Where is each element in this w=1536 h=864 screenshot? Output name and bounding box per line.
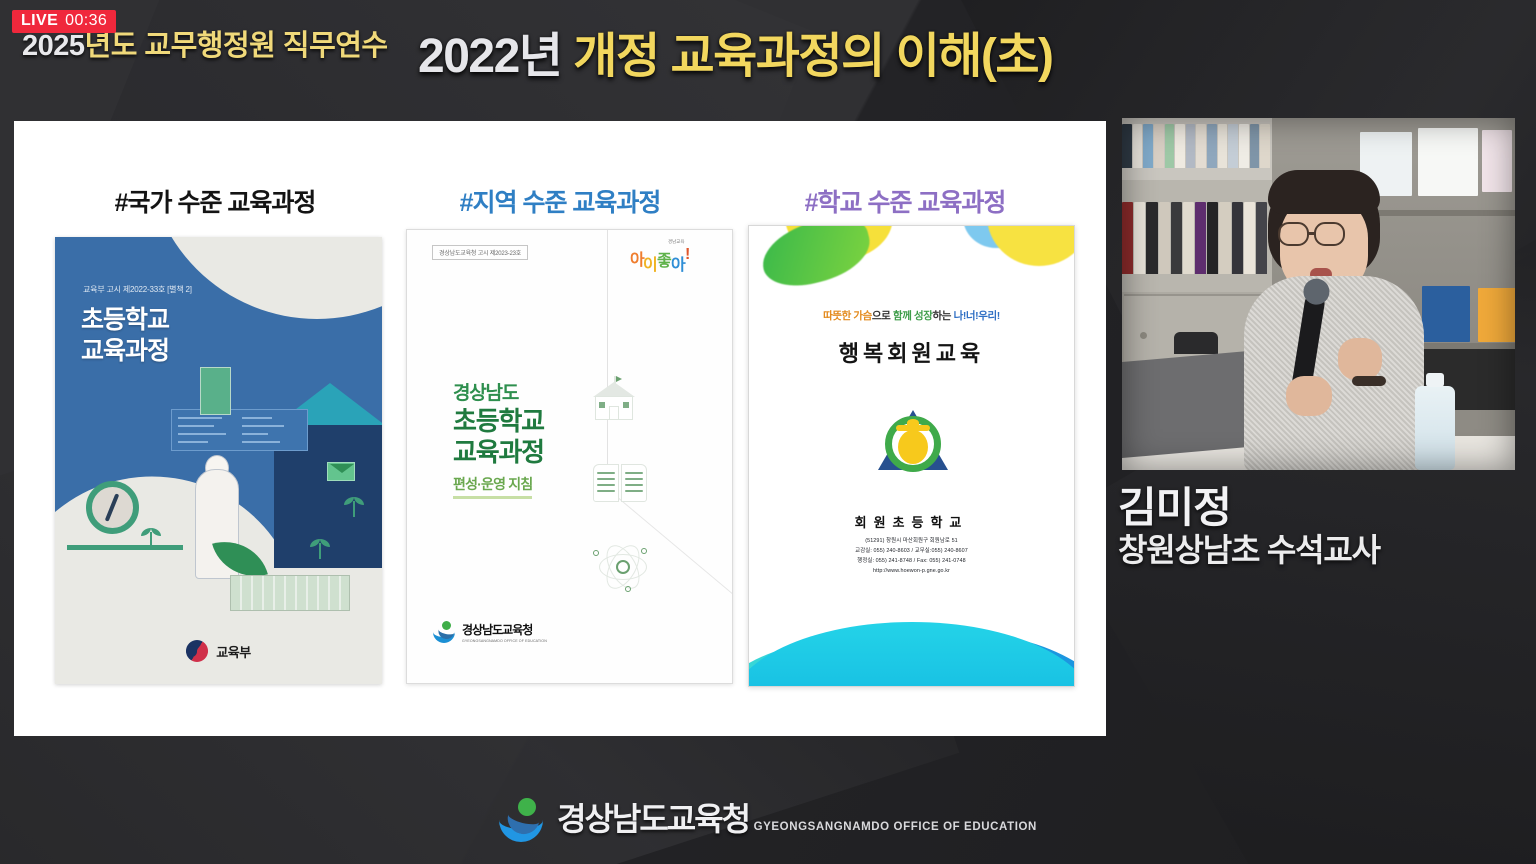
cover3-motto-part3: 함께 성장 — [893, 310, 933, 322]
cover1-data-panel — [171, 409, 308, 451]
presenter-gesturing-hand — [1338, 338, 1382, 380]
cover1-title-line1: 초등학교 — [81, 305, 169, 336]
cover1-title: 초등학교 교육과정 — [81, 305, 169, 368]
cover3-green-brush — [755, 225, 876, 294]
cover3-motto-part1: 따뜻한 가슴 — [823, 310, 872, 322]
cover2-title-line1: 경상남도 — [453, 382, 544, 406]
cover2-publisher-ko: 경상남도교육청 — [462, 623, 532, 637]
cover1-publisher-label: 교육부 — [216, 642, 250, 661]
school-building-icon — [587, 378, 641, 422]
live-badge: LIVE 00:36 — [12, 10, 116, 33]
presenter-caption: 김미정 창원상남초 수석교사 — [1118, 484, 1380, 569]
books-row-top — [1122, 124, 1270, 168]
page-title: 2022년 개정 교육과정의 이해(초) — [418, 16, 1053, 86]
taegeuk-government-icon — [186, 640, 208, 662]
water-bottle — [1415, 386, 1455, 470]
sprout-icon — [344, 495, 364, 517]
compass-icon — [86, 481, 139, 534]
live-label: LIVE — [21, 13, 58, 29]
envelope-icon — [327, 462, 355, 481]
cover2-publisher-en: GYEONGSANGNAMDO OFFICE OF EDUCATION — [462, 639, 547, 643]
cover3-phone: 교감실: 055) 240-8603 / 교무실:055) 240-8607 — [749, 546, 1074, 556]
school-emblem-icon — [874, 402, 952, 480]
cover3-motto-part5: 나!너!우리! — [954, 310, 1000, 322]
cover1-publisher: 교육부 — [55, 640, 382, 662]
keyboard-icon — [230, 575, 350, 611]
main-title-topic: 개정 교육과정의 이해(초) — [573, 30, 1052, 83]
cover1-chart-graphic — [200, 367, 231, 415]
atom-icon — [595, 542, 651, 596]
cover3-url: http://www.hoewon-p.gne.go.kr — [749, 566, 1074, 576]
main-title-year: 2022년 — [418, 30, 561, 83]
presenter-fringe — [1268, 170, 1380, 214]
aijoa-brand-logo: 경남교육 아이좋아! — [630, 240, 708, 270]
presenter-name: 김미정 — [1118, 484, 1380, 531]
cover1-notice-text: 교육부 고시 제2022-33호 [별책 2] — [83, 284, 192, 295]
gne-office-logo-icon — [433, 621, 455, 643]
banner-subtitle-text: 년도 교무행정원 직무연수 — [85, 30, 388, 62]
live-timer: 00:36 — [65, 13, 107, 29]
cover3-motto-part2: 으로 — [872, 310, 893, 322]
presenter-figure — [1234, 170, 1434, 470]
presenter-role: 창원상남초 수석교사 — [1118, 531, 1380, 569]
cover2-notice-tag: 경상남도교육청 고시 제2023-23호 — [432, 245, 528, 260]
cover3-motto-part4: 하는 — [933, 310, 954, 322]
cover3-wave-graphic — [749, 604, 1074, 686]
gne-logo-icon — [499, 798, 543, 842]
presenter-hand-holding-mic — [1286, 376, 1332, 416]
cover3-title: 행복회원교육 — [749, 336, 1074, 368]
organization-name-en: GYEONGSANGNAMDO OFFICE OF EDUCATION — [754, 821, 1037, 833]
cover3-yellow-blob-right — [987, 225, 1075, 266]
aijoa-sub-label: 경남교육 — [668, 239, 685, 245]
cover2-title: 경상남도 초등학교 교육과정 편성·운영 지침 — [453, 382, 544, 499]
glasses-right-lens-icon — [1314, 222, 1345, 246]
cover3-motto: 따뜻한 가슴으로 함께 성장하는 나!너!우리! — [749, 308, 1074, 323]
display-book-3 — [1482, 130, 1512, 192]
cover3-school-name: 회원초등학교 — [749, 512, 1074, 531]
book-cover-national-curriculum: 교육부 고시 제2022-33호 [별책 2] 초등학교 교육과정 — [55, 237, 382, 684]
glasses-left-lens-icon — [1278, 222, 1309, 246]
organization-logo: 경상남도교육청 GYEONGSANGNAMDO OFFICE OF EDUCAT… — [0, 798, 1536, 842]
book-cover-school-curriculum: 따뜻한 가슴으로 함께 성장하는 나!너!우리! 행복회원교육 회원초등학교 (… — [748, 225, 1075, 687]
cover3-fax: 행정실: 055) 241-8748 / Fax: 055) 241-0748 — [749, 556, 1074, 566]
cover2-subtitle: 편성·운영 지침 — [453, 474, 532, 499]
sprout-icon — [141, 526, 161, 548]
display-book-5 — [1478, 288, 1515, 342]
organization-name-ko: 경상남도교육청 — [557, 801, 749, 837]
chair-back — [1174, 332, 1218, 354]
presenter-video-feed[interactable] — [1122, 118, 1515, 470]
presentation-slide[interactable]: #국가 수준 교육과정 #지역 수준 교육과정 #학교 수준 교육과정 교육부 … — [14, 121, 1106, 736]
cover1-title-line2: 교육과정 — [81, 336, 169, 367]
glasses-bridge-icon — [1308, 232, 1316, 235]
cover3-address: (51291) 창원시 마산회원구 회원남로 51 — [749, 536, 1074, 546]
cover2-publisher: 경상남도교육청 GYEONGSANGNAMDO OFFICE OF EDUCAT… — [433, 621, 547, 643]
broadcast-stage: LIVE 00:36 2025년도 교무행정원 직무연수 2022년 개정 교육… — [0, 0, 1536, 864]
cover1-ground-line — [67, 545, 183, 550]
presenter-wristwatch — [1352, 376, 1386, 386]
cover2-title-line2: 초등학교 — [453, 406, 544, 437]
book-cover-regional-guideline: 경상남도교육청 고시 제2023-23호 경남교육 아이좋아! — [406, 229, 733, 684]
cover2-title-line3: 교육과정 — [453, 437, 544, 468]
sprout-icon — [310, 537, 330, 559]
cover2-vertical-rule — [607, 230, 608, 485]
open-book-icon — [593, 460, 651, 506]
banner-subtitle-year: 2025 — [22, 30, 85, 62]
cover3-contact-block: (51291) 창원시 마산회원구 회원남로 51 교감실: 055) 240-… — [749, 536, 1074, 576]
presenter-torso — [1244, 276, 1424, 470]
